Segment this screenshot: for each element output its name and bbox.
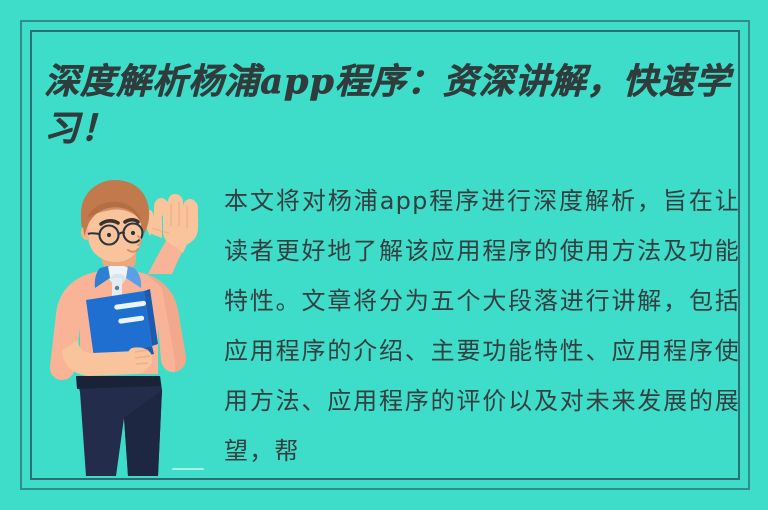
- poster-canvas: 深度解析杨浦app程序：资深讲解，快速学习！ 本文将对杨浦app程序进行深度解析…: [0, 0, 768, 510]
- ground-tick: [172, 468, 204, 470]
- poster-body-text: 本文将对杨浦app程序进行深度解析，旨在让读者更好地了解该应用程序的使用方法及功…: [224, 176, 740, 476]
- eye-right: [131, 231, 135, 235]
- waving-arm-icon: [142, 194, 198, 274]
- eye-left: [107, 233, 111, 237]
- poster-title: 深度解析杨浦app程序：资深讲解，快速学习！: [44, 58, 744, 152]
- character-illustration: [40, 178, 226, 480]
- shirt-button-1: [115, 286, 119, 290]
